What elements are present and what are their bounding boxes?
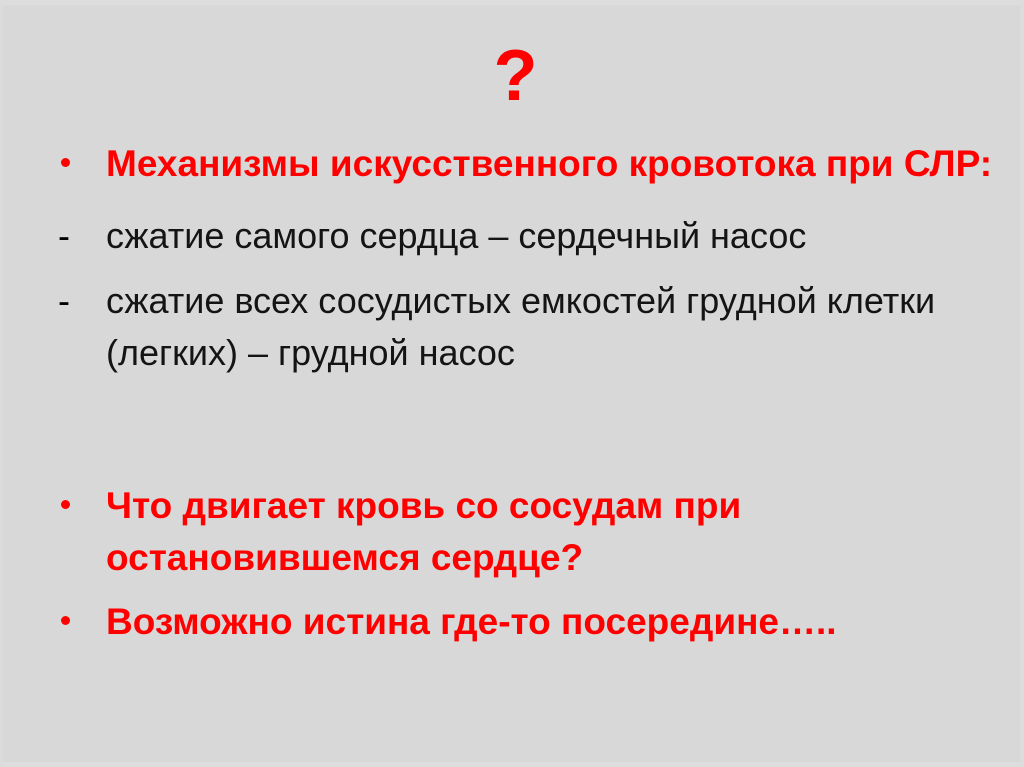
slide-canvas: ? Механизмы искусственного кровотока при…	[3, 5, 1020, 762]
slide: ? Механизмы искусственного кровотока при…	[0, 0, 1024, 767]
slide-body: Механизмы искусственного кровотока при С…	[3, 138, 1024, 648]
dash-marker-icon: -	[3, 275, 106, 327]
bullet-marker-icon	[3, 480, 106, 532]
list-item-text: Что двигает кровь со сосудам при останов…	[106, 480, 1024, 584]
bullet-marker-icon	[3, 596, 106, 648]
list-item-mechanisms-heading: Механизмы искусственного кровотока при С…	[3, 138, 1024, 190]
dash-marker-icon: -	[3, 210, 106, 262]
list-item-text: сжатие самого сердца – сердечный насос	[106, 210, 1024, 262]
bullet-marker-icon	[3, 138, 106, 190]
list-item-text: сжатие всех сосудистых емкостей грудной …	[106, 275, 1024, 379]
list-item-question-what-moves-blood: Что двигает кровь со сосудам при останов…	[3, 480, 1024, 584]
list-item-cardiac-pump: - сжатие самого сердца – сердечный насос	[3, 210, 1024, 262]
list-item-text: Механизмы искусственного кровотока при С…	[106, 138, 1024, 190]
page-title: ?	[3, 39, 1024, 113]
list-item-truth-in-the-middle: Возможно истина где-то посередине…..	[3, 596, 1024, 648]
list-item-thoracic-pump: - сжатие всех сосудистых емкостей грудно…	[3, 275, 1024, 379]
list-item-text: Возможно истина где-то посередине…..	[106, 596, 1024, 648]
